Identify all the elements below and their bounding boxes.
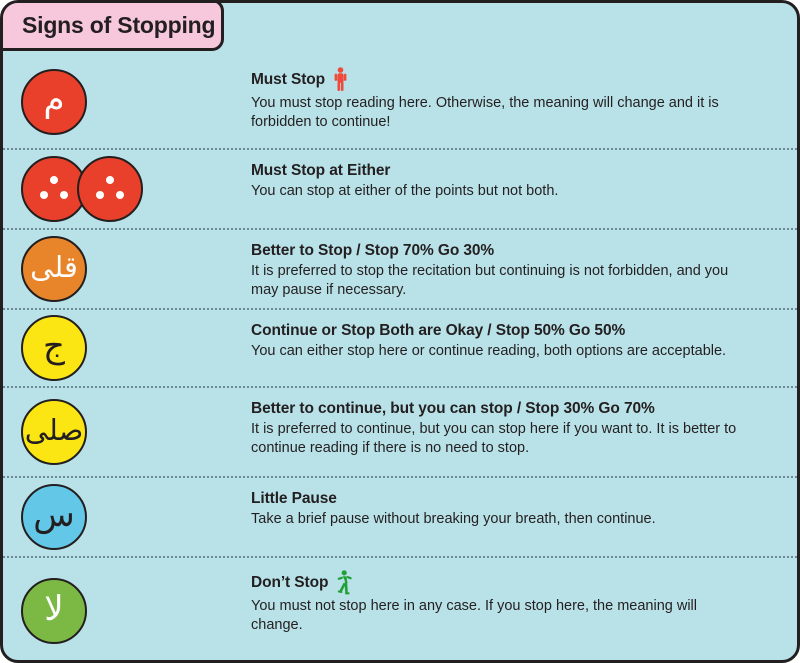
title-line: Little Pause bbox=[251, 490, 779, 508]
row-title: Continue or Stop Both are Okay / Stop 50… bbox=[251, 322, 625, 340]
red-standing-pedestrian-icon bbox=[333, 67, 348, 92]
row-description: It is preferred to continue, but you can… bbox=[251, 420, 751, 458]
header-badge: Signs of Stopping bbox=[0, 0, 224, 51]
row-title: Don’t Stop bbox=[251, 574, 328, 592]
sign-cell: قلى bbox=[3, 230, 251, 308]
qila-sign: قلى bbox=[21, 236, 87, 302]
sign-cell bbox=[3, 150, 251, 228]
row-title: Must Stop at Either bbox=[251, 162, 390, 180]
three-dots-sign-right bbox=[77, 156, 143, 222]
row-title: Little Pause bbox=[251, 490, 337, 508]
title-line: Must Stop bbox=[251, 67, 779, 92]
circle-group: م bbox=[21, 69, 87, 135]
text-cell: Better to continue, but you can stop / S… bbox=[251, 388, 797, 458]
list-item: س Little Pause Take a brief pause withou… bbox=[3, 476, 797, 556]
circle-group: قلى bbox=[21, 236, 87, 302]
title-line: Continue or Stop Both are Okay / Stop 50… bbox=[251, 322, 779, 340]
sala-sign: صلى bbox=[21, 399, 87, 465]
circle-group: ج bbox=[21, 315, 87, 381]
title-line: Better to continue, but you can stop / S… bbox=[251, 400, 779, 418]
infographic-page: Signs of Stopping م Must Stop bbox=[0, 0, 800, 663]
row-description: You must not stop here in any case. If y… bbox=[251, 597, 751, 635]
row-description: You must stop reading here. Otherwise, t… bbox=[251, 94, 751, 132]
row-title: Better to continue, but you can stop / S… bbox=[251, 400, 655, 418]
row-description: You can stop at either of the points but… bbox=[251, 182, 751, 201]
meem-sign: م bbox=[21, 69, 87, 135]
row-title: Must Stop bbox=[251, 71, 325, 89]
three-dots-glyph bbox=[37, 176, 71, 202]
circle-group bbox=[21, 156, 143, 222]
sign-cell: م bbox=[3, 55, 251, 148]
sign-cell: صلى bbox=[3, 388, 251, 476]
text-cell: Continue or Stop Both are Okay / Stop 50… bbox=[251, 310, 797, 361]
sign-cell: س bbox=[3, 478, 251, 556]
title-line: Must Stop at Either bbox=[251, 162, 779, 180]
row-title: Better to Stop / Stop 70% Go 30% bbox=[251, 242, 494, 260]
sign-glyph: صلى bbox=[25, 416, 83, 445]
text-cell: Must Stop at Either You can stop at eith… bbox=[251, 150, 797, 201]
row-description: You can either stop here or continue rea… bbox=[251, 342, 751, 361]
three-dots-glyph bbox=[93, 176, 127, 202]
page-title: Signs of Stopping bbox=[2, 12, 215, 39]
list-item: Must Stop at Either You can stop at eith… bbox=[3, 148, 797, 228]
list-item: لا Don’t Stop bbox=[3, 556, 797, 663]
sign-glyph: لا bbox=[44, 592, 63, 626]
row-description: Take a brief pause without breaking your… bbox=[251, 510, 751, 529]
list-item: ج Continue or Stop Both are Okay / Stop … bbox=[3, 308, 797, 386]
title-line: Don’t Stop bbox=[251, 570, 779, 595]
sign-glyph: م bbox=[43, 83, 64, 117]
jeem-sign: ج bbox=[21, 315, 87, 381]
laa-sign: لا bbox=[21, 578, 87, 644]
row-description: It is preferred to stop the recitation b… bbox=[251, 262, 751, 300]
sign-glyph: قلى bbox=[30, 253, 78, 282]
signs-list: م Must Stop bbox=[3, 55, 797, 660]
text-cell: Must Stop bbox=[251, 55, 797, 132]
sign-cell: ج bbox=[3, 310, 251, 386]
text-cell: Don’t Stop bbox=[251, 558, 797, 635]
text-cell: Better to Stop / Stop 70% Go 30% It is p… bbox=[251, 230, 797, 300]
circle-group: لا bbox=[21, 578, 87, 644]
text-cell: Little Pause Take a brief pause without … bbox=[251, 478, 797, 529]
green-walking-pedestrian-icon bbox=[336, 570, 351, 595]
circle-group: صلى bbox=[21, 399, 87, 465]
list-item: قلى Better to Stop / Stop 70% Go 30% It … bbox=[3, 228, 797, 308]
sign-glyph: س bbox=[33, 498, 75, 532]
seen-sign: س bbox=[21, 484, 87, 550]
list-item: صلى Better to continue, but you can stop… bbox=[3, 386, 797, 476]
list-item: م Must Stop bbox=[3, 55, 797, 148]
sign-cell: لا bbox=[3, 558, 251, 663]
title-line: Better to Stop / Stop 70% Go 30% bbox=[251, 242, 779, 260]
circle-group: س bbox=[21, 484, 87, 550]
sign-glyph: ج bbox=[43, 329, 65, 363]
